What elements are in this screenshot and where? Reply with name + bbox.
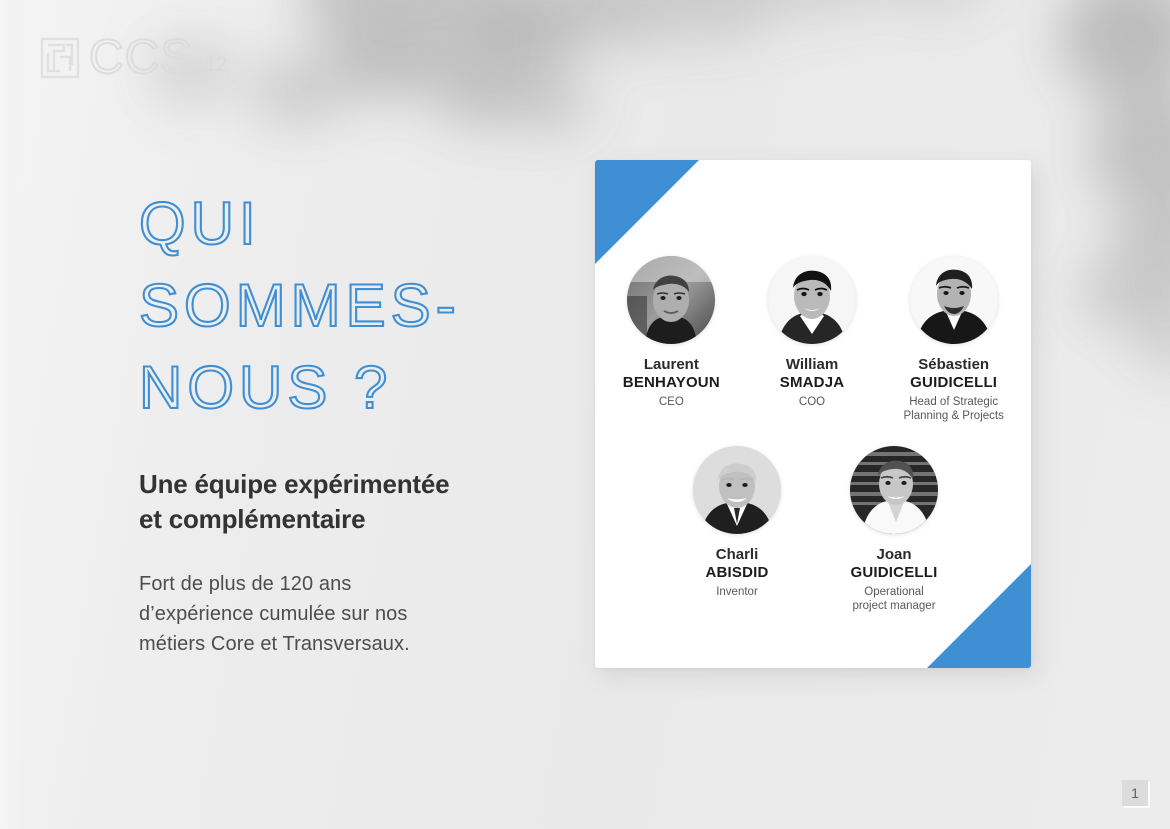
member-last-name: ABISDID	[705, 564, 768, 582]
team-grid: Laurent BENHAYOUN CEO	[595, 160, 1031, 668]
member-first-name: Laurent	[644, 356, 699, 374]
member-role: Head of Strategic Planning & Projects	[903, 395, 1003, 424]
member-last-name: SMADJA	[780, 374, 845, 392]
body-paragraph: Fort de plus de 120 ans d’expérience cum…	[139, 570, 539, 659]
team-member-card[interactable]: Sébastien GUIDICELLI Head of Strategic P…	[892, 256, 1015, 424]
slide-canvas: CCS 12 QUI SOMMES- NOUS ? Une équipe exp…	[0, 0, 1170, 829]
member-first-name: Charli	[716, 546, 759, 564]
avatar-photo-william	[768, 256, 856, 344]
left-content-column: QUI SOMMES- NOUS ? Une équipe expériment…	[139, 183, 539, 660]
member-first-name: Sébastien	[918, 356, 989, 374]
member-last-name: BENHAYOUN	[623, 374, 720, 392]
member-first-name: Joan	[876, 546, 911, 564]
team-row: Charli ABISDID Inventor	[611, 446, 1015, 614]
team-card: Laurent BENHAYOUN CEO	[595, 160, 1031, 668]
team-member-card[interactable]: Charli ABISDID Inventor	[676, 446, 798, 614]
subheading: Une équipe expérimentée et complémentair…	[139, 467, 539, 536]
team-member-card[interactable]: Joan GUIDICELLI Operational project mana…	[832, 446, 956, 614]
team-member-card[interactable]: Laurent BENHAYOUN CEO	[611, 256, 732, 424]
page-title: QUI SOMMES- NOUS ?	[139, 183, 539, 429]
brand-logo: CCS 12	[40, 34, 228, 82]
team-member-card[interactable]: William SMADJA COO	[752, 256, 873, 424]
avatar-photo-charli	[693, 446, 781, 534]
member-last-name: GUIDICELLI	[910, 374, 997, 392]
avatar-photo-joan	[850, 446, 938, 534]
member-role: COO	[799, 395, 825, 410]
avatar-photo-laurent	[627, 256, 715, 344]
logo-number: 12	[204, 53, 227, 77]
team-row: Laurent BENHAYOUN CEO	[611, 256, 1015, 424]
logo-wordmark: CCS	[89, 34, 193, 82]
member-role: CEO	[659, 395, 684, 410]
member-role: Operational project manager	[852, 585, 935, 614]
avatar-photo-sebastien	[910, 256, 998, 344]
maze-glyph-icon	[40, 37, 80, 79]
member-role: Inventor	[716, 585, 758, 600]
member-first-name: William	[786, 356, 838, 374]
member-last-name: GUIDICELLI	[851, 564, 938, 582]
page-number-badge: 1	[1122, 780, 1148, 806]
